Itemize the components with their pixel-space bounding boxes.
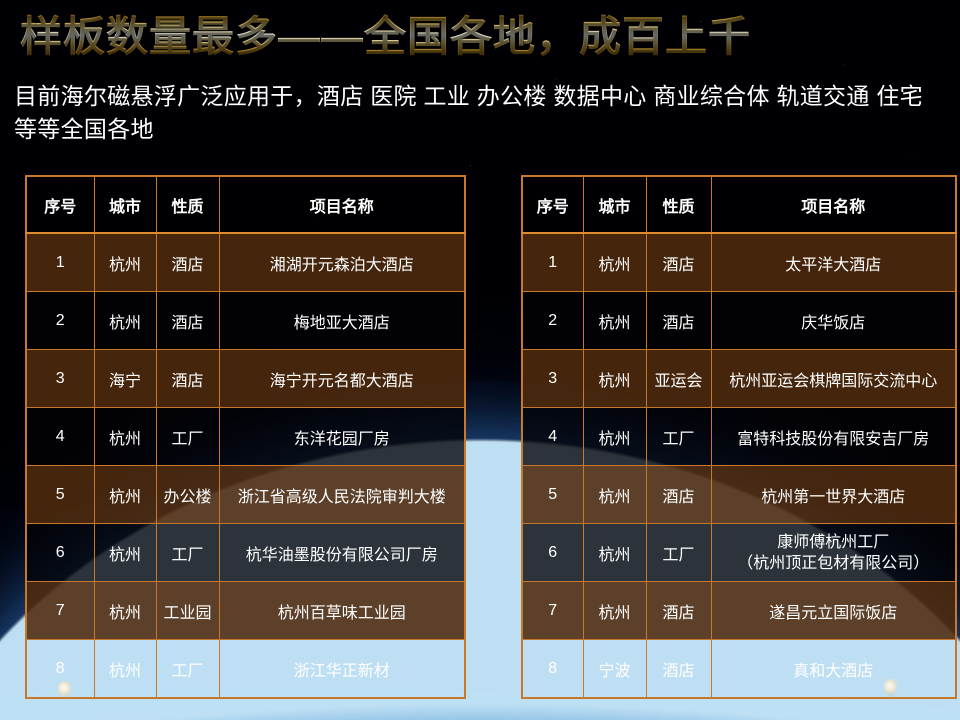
cell-index: 2	[522, 292, 583, 350]
cell-project: 海宁开元名都大酒店	[219, 350, 465, 408]
cell-project: 真和大酒店	[711, 640, 956, 699]
cell-type: 工厂	[156, 640, 219, 699]
cell-city: 杭州	[583, 408, 646, 466]
cell-type: 办公楼	[156, 466, 219, 524]
cell-city: 杭州	[94, 524, 156, 582]
cell-city: 杭州	[94, 582, 156, 640]
cell-type: 酒店	[646, 233, 711, 292]
cell-type: 酒店	[156, 233, 219, 292]
cell-city: 杭州	[583, 292, 646, 350]
table-row: 2杭州酒店梅地亚大酒店	[26, 292, 465, 350]
cell-index: 8	[522, 640, 583, 699]
table-row: 3杭州亚运会杭州亚运会棋牌国际交流中心	[522, 350, 956, 408]
table-row: 5杭州酒店杭州第一世界大酒店	[522, 466, 956, 524]
cell-project: 杭州百草味工业园	[219, 582, 465, 640]
cell-type: 工厂	[646, 524, 711, 582]
column-header-index: 序号	[26, 176, 94, 233]
cell-type: 酒店	[646, 640, 711, 699]
cell-project: 东洋花园厂房	[219, 408, 465, 466]
column-header-type: 性质	[156, 176, 219, 233]
column-header-type: 性质	[646, 176, 711, 233]
table-header-row: 序号 城市 性质 项目名称	[522, 176, 956, 233]
cell-project: 杭华油墨股份有限公司厂房	[219, 524, 465, 582]
table-row: 6杭州工厂康师傅杭州工厂（杭州顶正包材有限公司）	[522, 524, 956, 582]
cell-city: 宁波	[583, 640, 646, 699]
cell-city: 杭州	[94, 408, 156, 466]
table-body-left: 1杭州酒店湘湖开元森泊大酒店2杭州酒店梅地亚大酒店3海宁酒店海宁开元名都大酒店4…	[26, 233, 465, 698]
cell-index: 6	[26, 524, 94, 582]
cell-type: 酒店	[156, 292, 219, 350]
cell-city: 杭州	[94, 466, 156, 524]
cell-city: 海宁	[94, 350, 156, 408]
page-subtitle: 目前海尔磁悬浮广泛应用于，酒店 医院 工业 办公楼 数据中心 商业综合体 轨道交…	[14, 80, 944, 146]
table-header-row: 序号 城市 性质 项目名称	[26, 176, 465, 233]
table-row: 5杭州办公楼浙江省高级人民法院审判大楼	[26, 466, 465, 524]
cell-project: 富特科技股份有限安吉厂房	[711, 408, 956, 466]
table-row: 7杭州工业园杭州百草味工业园	[26, 582, 465, 640]
cell-project: 太平洋大酒店	[711, 233, 956, 292]
cell-city: 杭州	[583, 466, 646, 524]
cell-type: 工厂	[156, 408, 219, 466]
cell-type: 工厂	[156, 524, 219, 582]
column-header-index: 序号	[522, 176, 583, 233]
cell-project: 湘湖开元森泊大酒店	[219, 233, 465, 292]
cell-index: 5	[26, 466, 94, 524]
cell-city: 杭州	[583, 233, 646, 292]
page-title: 样板数量最多——全国各地，成百上千	[20, 13, 751, 61]
column-header-city: 城市	[94, 176, 156, 233]
cell-project: 杭州亚运会棋牌国际交流中心	[711, 350, 956, 408]
cell-index: 4	[522, 408, 583, 466]
table-body-right: 1杭州酒店太平洋大酒店2杭州酒店庆华饭店3杭州亚运会杭州亚运会棋牌国际交流中心4…	[522, 233, 956, 698]
cell-type: 工业园	[156, 582, 219, 640]
table-row: 1杭州酒店太平洋大酒店	[522, 233, 956, 292]
cell-index: 5	[522, 466, 583, 524]
table-row: 7杭州酒店遂昌元立国际饭店	[522, 582, 956, 640]
table-row: 6杭州工厂杭华油墨股份有限公司厂房	[26, 524, 465, 582]
cell-index: 8	[26, 640, 94, 699]
cell-city: 杭州	[583, 524, 646, 582]
table-row: 3海宁酒店海宁开元名都大酒店	[26, 350, 465, 408]
cell-project: 杭州第一世界大酒店	[711, 466, 956, 524]
cell-index: 7	[522, 582, 583, 640]
cell-type: 酒店	[646, 466, 711, 524]
cell-index: 3	[522, 350, 583, 408]
cell-city: 杭州	[583, 350, 646, 408]
cell-type: 酒店	[156, 350, 219, 408]
cell-index: 1	[26, 233, 94, 292]
table-row: 8宁波酒店真和大酒店	[522, 640, 956, 699]
cell-project: 梅地亚大酒店	[219, 292, 465, 350]
cell-index: 1	[522, 233, 583, 292]
table-row: 4杭州工厂东洋花园厂房	[26, 408, 465, 466]
cell-type: 酒店	[646, 582, 711, 640]
cell-index: 2	[26, 292, 94, 350]
table-row: 8杭州工厂浙江华正新材	[26, 640, 465, 699]
cell-project: 浙江华正新材	[219, 640, 465, 699]
cell-index: 7	[26, 582, 94, 640]
cell-type: 亚运会	[646, 350, 711, 408]
project-table-left: 序号 城市 性质 项目名称 1杭州酒店湘湖开元森泊大酒店2杭州酒店梅地亚大酒店3…	[25, 175, 466, 699]
cell-type: 工厂	[646, 408, 711, 466]
cell-index: 6	[522, 524, 583, 582]
table-row: 1杭州酒店湘湖开元森泊大酒店	[26, 233, 465, 292]
cell-city: 杭州	[94, 233, 156, 292]
table-row: 2杭州酒店庆华饭店	[522, 292, 956, 350]
cell-city: 杭州	[94, 640, 156, 699]
project-table-right: 序号 城市 性质 项目名称 1杭州酒店太平洋大酒店2杭州酒店庆华饭店3杭州亚运会…	[521, 175, 957, 699]
cell-index: 4	[26, 408, 94, 466]
cell-project: 浙江省高级人民法院审判大楼	[219, 466, 465, 524]
cell-project: 遂昌元立国际饭店	[711, 582, 956, 640]
column-header-project: 项目名称	[711, 176, 956, 233]
cell-city: 杭州	[94, 292, 156, 350]
cell-project: 康师傅杭州工厂（杭州顶正包材有限公司）	[711, 524, 956, 582]
slide-canvas: 样板数量最多——全国各地，成百上千 目前海尔磁悬浮广泛应用于，酒店 医院 工业 …	[0, 0, 960, 720]
column-header-project: 项目名称	[219, 176, 465, 233]
cell-project: 庆华饭店	[711, 292, 956, 350]
column-header-city: 城市	[583, 176, 646, 233]
table-row: 4杭州工厂富特科技股份有限安吉厂房	[522, 408, 956, 466]
cell-index: 3	[26, 350, 94, 408]
cell-city: 杭州	[583, 582, 646, 640]
cell-type: 酒店	[646, 292, 711, 350]
